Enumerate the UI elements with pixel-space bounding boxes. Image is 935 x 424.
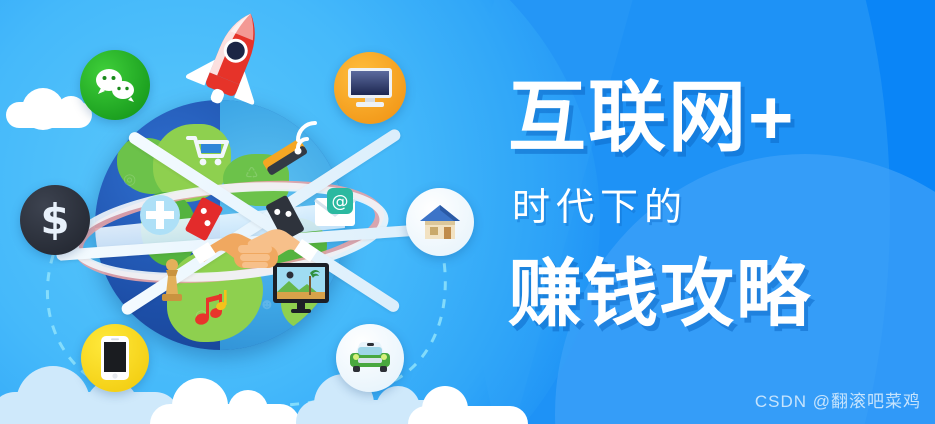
chess-piece-icon [157, 258, 187, 309]
headline-line-1: 互联网+ [508, 78, 796, 156]
music-note-icon [190, 284, 238, 337]
handshake-illustration [190, 196, 320, 291]
monitor-icon [334, 52, 406, 124]
wifi-reader-icon [258, 120, 320, 183]
shopping-cart-icon [186, 132, 230, 173]
smartphone-icon [81, 324, 149, 392]
headline-line-3: 赚钱攻略 [508, 256, 812, 332]
dollar-icon: $ [20, 185, 90, 255]
wechat-icon [80, 50, 150, 120]
rocket-icon [186, 6, 278, 119]
poster-banner: ◎ ☺ ♺ ◉ ☻ ◎ [0, 0, 935, 424]
headline-line-2: 时代下的 [512, 188, 688, 228]
headline-block: 互联网+ 时代下的 赚钱攻略 [508, 0, 935, 424]
house-icon [406, 188, 474, 256]
svg-text:$: $ [40, 196, 69, 244]
car-icon [336, 324, 404, 392]
svg-text:@: @ [332, 192, 349, 212]
medical-cross-icon [139, 194, 181, 241]
csdn-watermark: CSDN @翻滚吧菜鸡 [755, 387, 921, 412]
